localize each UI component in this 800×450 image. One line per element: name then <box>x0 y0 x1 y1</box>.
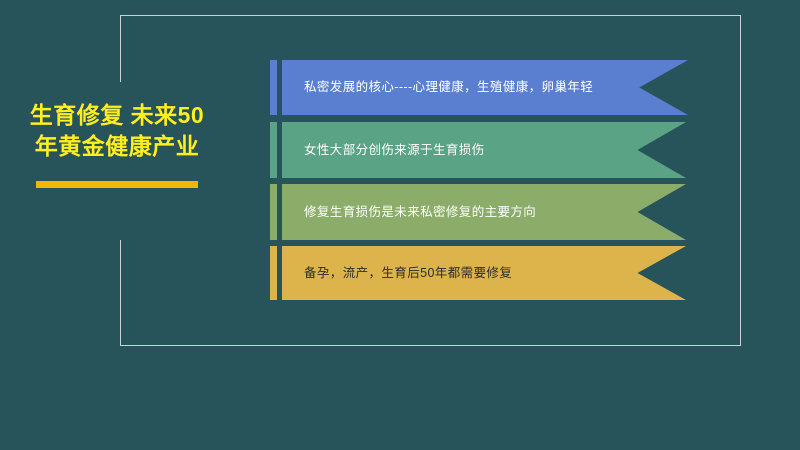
ribbon-banner[interactable]: 女性大部分创伤来源于生育损伤 <box>282 122 686 178</box>
ribbon-item[interactable]: 女性大部分创伤来源于生育损伤 <box>270 122 686 178</box>
ribbon-accent-tab <box>270 184 277 240</box>
ribbon-banner[interactable]: 备孕，流产，生育后50年都需要修复 <box>282 246 686 300</box>
ribbon-accent-tab <box>270 246 277 300</box>
ribbon-banner[interactable]: 修复生育损伤是未来私密修复的主要方向 <box>282 184 686 240</box>
ribbon-banner[interactable]: 私密发展的核心----心理健康，生殖健康，卵巢年轻 <box>282 60 688 115</box>
ribbon-item[interactable]: 修复生育损伤是未来私密修复的主要方向 <box>270 184 686 240</box>
ribbon-item[interactable]: 备孕，流产，生育后50年都需要修复 <box>270 246 686 300</box>
ribbon-label: 女性大部分创伤来源于生育损伤 <box>282 143 485 158</box>
ribbon-accent-tab <box>270 122 277 178</box>
ribbon-label: 私密发展的核心----心理健康，生殖健康，卵巢年轻 <box>282 80 593 95</box>
slide-canvas: 生育修复 未来50年黄金健康产业 私密发展的核心----心理健康，生殖健康，卵巢… <box>0 0 800 450</box>
ribbon-accent-tab <box>270 60 277 115</box>
ribbon-item[interactable]: 私密发展的核心----心理健康，生殖健康，卵巢年轻 <box>270 60 688 115</box>
ribbon-label: 修复生育损伤是未来私密修复的主要方向 <box>282 205 536 220</box>
ribbon-label: 备孕，流产，生育后50年都需要修复 <box>282 266 512 281</box>
ribbon-list: 私密发展的核心----心理健康，生殖健康，卵巢年轻女性大部分创伤来源于生育损伤修… <box>0 0 800 450</box>
